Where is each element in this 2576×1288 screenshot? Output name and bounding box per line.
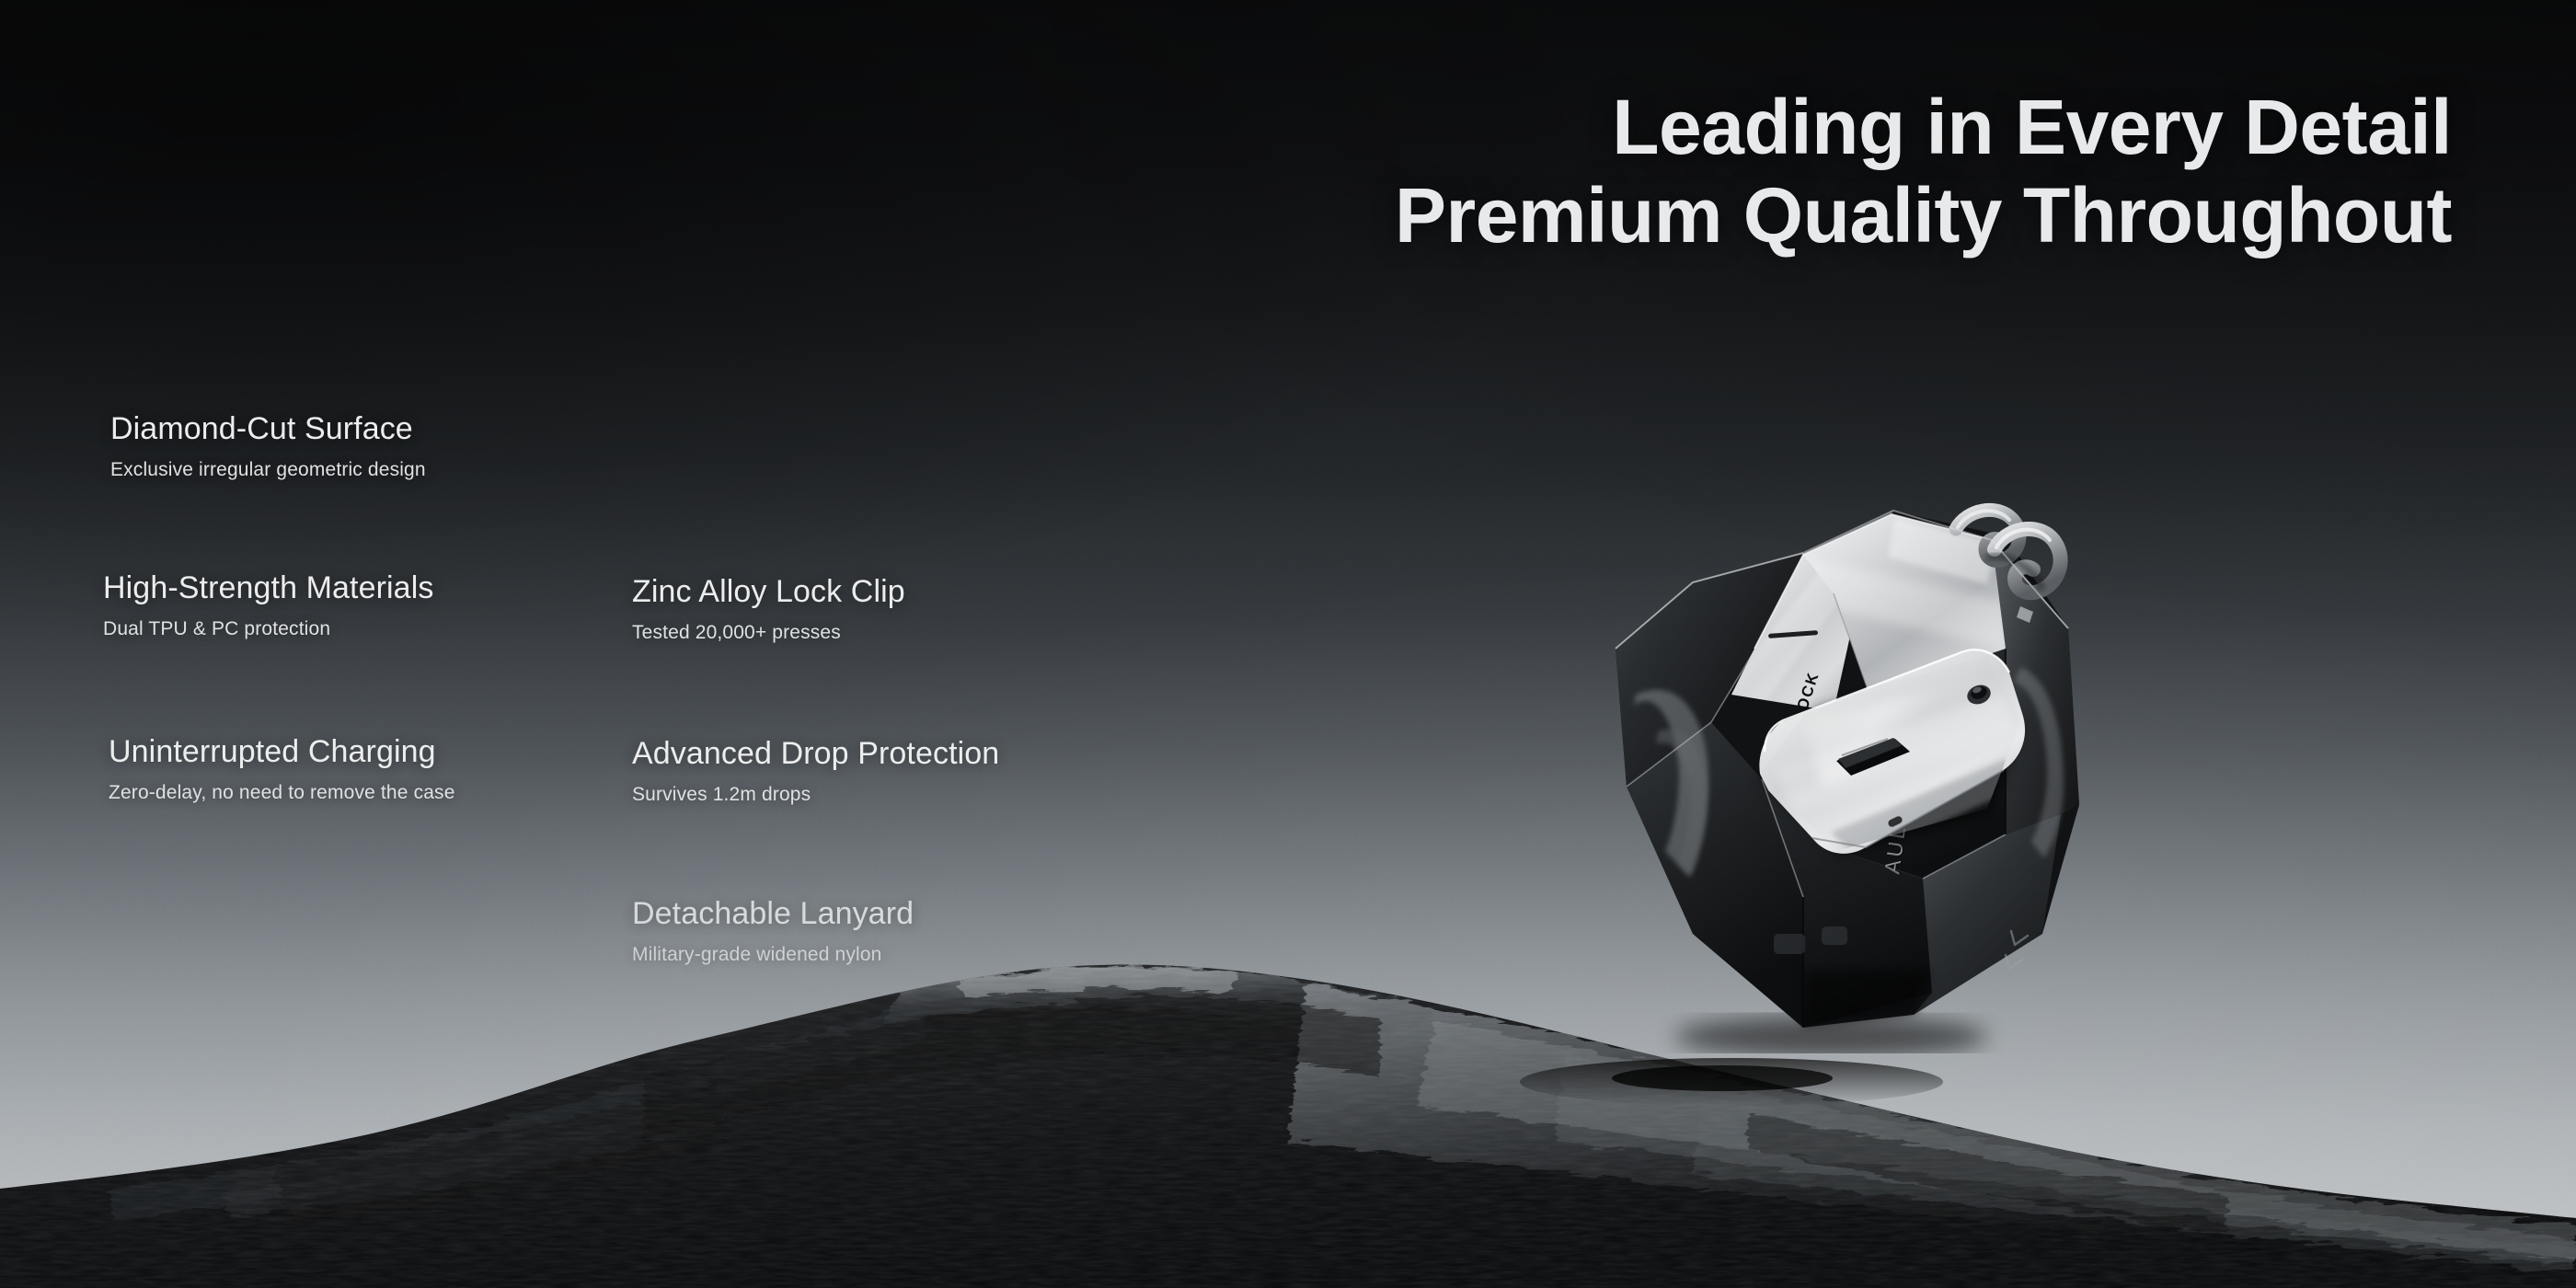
feature-diamond-cut-surface: Diamond-Cut Surface Exclusive irregular … [110,411,426,481]
feature-title: High-Strength Materials [103,570,433,606]
feature-title: Diamond-Cut Surface [110,411,426,447]
feature-title: Zinc Alloy Lock Clip [632,574,905,610]
headline-line-2: Premium Quality Throughout [1395,177,2452,256]
promo-banner: Leading in Every Detail Premium Quality … [0,0,2576,1288]
rock-formation [0,865,2576,1288]
feature-subtitle: Zero-delay, no need to remove the case [109,782,455,804]
page-title: Leading in Every Detail Premium Quality … [1395,88,2452,255]
feature-title: Uninterrupted Charging [109,734,455,770]
feature-subtitle: Exclusive irregular geometric design [110,459,426,481]
feature-advanced-drop-protection: Advanced Drop Protection Survives 1.2m d… [632,736,999,806]
feature-subtitle: Military-grade widened nylon [632,944,914,966]
feature-detachable-lanyard: Detachable Lanyard Military-grade widene… [632,896,914,966]
feature-zinc-alloy-lock-clip: Zinc Alloy Lock Clip Tested 20,000+ pres… [632,574,905,644]
feature-title: Detachable Lanyard [632,896,914,932]
product-image-diamond-cut-case: AULUMU AULUMU [1527,419,2171,1053]
feature-subtitle: Tested 20,000+ presses [632,622,905,644]
headline-line-1: Leading in Every Detail [1395,88,2452,167]
feature-title: Advanced Drop Protection [632,736,999,772]
feature-subtitle: Dual TPU & PC protection [103,618,433,640]
feature-uninterrupted-charging: Uninterrupted Charging Zero-delay, no ne… [109,734,455,804]
feature-high-strength-materials: High-Strength Materials Dual TPU & PC pr… [103,570,433,640]
feature-subtitle: Survives 1.2m drops [632,784,999,806]
